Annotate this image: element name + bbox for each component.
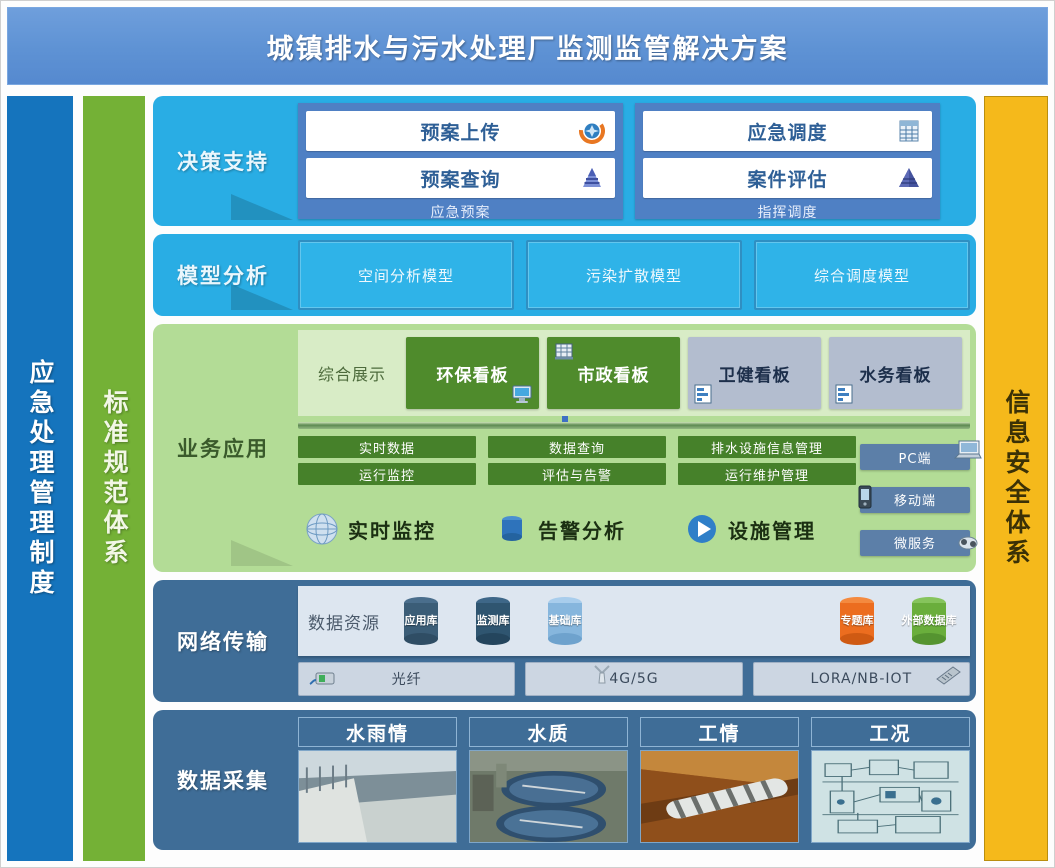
play-circle-icon	[682, 509, 722, 549]
layer-label-business-application: 业务应用	[153, 324, 293, 572]
business-feature-realtime-monitoring[interactable]: 实时监控	[298, 494, 476, 564]
terminal-label: 移动端	[894, 490, 936, 509]
model-box-integrated-dispatch[interactable]: 综合调度模型	[754, 240, 970, 310]
kanban-label: 环保看板	[437, 361, 509, 386]
model-box-spatial[interactable]: 空间分析模型	[298, 240, 514, 310]
transmission-link-label: 光纤	[392, 669, 422, 689]
divider-marker	[562, 416, 568, 422]
layer-label-network-transmission: 网络传输	[153, 580, 293, 702]
kanban-health[interactable]: 卫健看板	[688, 337, 821, 409]
database-external[interactable]: 外部数据库	[898, 593, 960, 649]
section-divider	[298, 422, 970, 429]
decision-item-label: 预案上传	[420, 118, 500, 145]
pipeline-trench-photo	[640, 750, 799, 843]
comprehensive-display-row: 综合展示 环保看板 市政看板	[298, 330, 970, 416]
layer-label-data-collection: 数据采集	[153, 710, 293, 850]
decision-item-plan-query[interactable]: 预案查询	[306, 158, 615, 198]
layer-data-collection: 数据采集 水雨情	[153, 710, 976, 850]
business-feature-label: 实时监控	[348, 515, 436, 544]
pyramid-dark-icon	[896, 165, 922, 191]
architecture-diagram: 城镇排水与污水处理厂监测监管解决方案 应急处理管理制度 标准规范体系 信息安全体…	[0, 0, 1055, 868]
data-card-title: 水质	[469, 717, 628, 747]
chart-doc-icon	[833, 383, 855, 405]
kanban-label: 水务看板	[860, 361, 932, 386]
database-thematic[interactable]: 专题库	[826, 593, 888, 649]
decision-item-label: 应急调度	[747, 118, 827, 145]
decision-group-footer: 应急预案	[306, 205, 615, 221]
terminal-label: 微服务	[894, 533, 936, 552]
kanban-environment[interactable]: 环保看板	[406, 337, 539, 409]
kanban-municipal[interactable]: 市政看板	[547, 337, 680, 409]
decision-item-label: 案件评估	[747, 165, 827, 192]
kanban-label: 卫健看板	[719, 361, 791, 386]
scada-schematic-photo	[811, 750, 970, 843]
data-card-title: 工况	[811, 717, 970, 747]
terminal-microservice[interactable]: 微服务	[860, 530, 970, 556]
business-chip-operation-maintenance[interactable]: 运行维护管理	[678, 463, 856, 485]
business-chip-assessment-alarm[interactable]: 评估与告警	[488, 463, 666, 485]
page-title: 城镇排水与污水处理厂监测监管解决方案	[267, 27, 789, 66]
transmission-link-cellular[interactable]: 4G/5G	[525, 662, 742, 696]
transmission-link-label: LORA/NB-IOT	[811, 671, 913, 687]
side-panel-label: 信息安全体系	[998, 389, 1034, 569]
data-card-operating-condition[interactable]: 工况	[811, 717, 970, 843]
layer-label-decision-support: 决策支持	[153, 96, 293, 226]
layer-decision-support: 决策支持 预案上传 预案查询	[153, 96, 976, 226]
side-panel-information-security: 信息安全体系	[984, 96, 1048, 861]
data-resource-row: 数据资源 应用库 监测库	[298, 586, 970, 656]
business-chip-data-query[interactable]: 数据查询	[488, 436, 666, 458]
business-feature-label: 设施管理	[728, 515, 816, 544]
business-column-monitoring: 实时数据 运行监控 实时监控	[298, 436, 476, 564]
monitor-icon	[511, 383, 533, 405]
layer-business-application: 业务应用 综合展示 环保看板 市政看板	[153, 324, 976, 572]
side-panel-emergency-management: 应急处理管理制度	[7, 96, 73, 861]
database-monitoring[interactable]: 监测库	[462, 593, 524, 649]
business-chip-drainage-facility-info[interactable]: 排水设施信息管理	[678, 436, 856, 458]
page-title-bar: 城镇排水与污水处理厂监测监管解决方案	[7, 7, 1048, 85]
database-label: 应用库	[390, 615, 452, 627]
model-box-list: 空间分析模型 污染扩散模型 综合调度模型	[298, 240, 970, 310]
decision-group-command-dispatch: 应急调度 案件评估	[635, 103, 940, 219]
database-icon	[492, 509, 532, 549]
transmission-link-label: 4G/5G	[609, 671, 658, 687]
database-label: 外部数据库	[898, 615, 960, 627]
transmission-link-list: 光纤 4G/5G LORA/NB-IOT	[298, 662, 970, 696]
kanban-label: 市政看板	[578, 361, 650, 386]
river-channel-photo	[298, 750, 457, 843]
layer-model-analysis: 模型分析 空间分析模型 污染扩散模型 综合调度模型	[153, 234, 976, 316]
building-icon	[553, 340, 575, 362]
grid-table-icon	[896, 118, 922, 144]
kanban-water-affairs[interactable]: 水务看板	[829, 337, 962, 409]
decision-item-label: 预案查询	[420, 165, 500, 192]
terminal-mobile[interactable]: 移动端	[860, 487, 970, 513]
decision-item-case-assessment[interactable]: 案件评估	[643, 158, 932, 198]
layer-stack: 决策支持 预案上传 预案查询	[153, 96, 976, 861]
decision-item-plan-upload[interactable]: 预案上传	[306, 111, 615, 151]
terminal-list: PC端 移动端	[860, 436, 970, 564]
business-chip-operation-monitoring[interactable]: 运行监控	[298, 463, 476, 485]
data-card-title: 工情	[640, 717, 799, 747]
business-feature-label: 告警分析	[538, 515, 626, 544]
data-card-water-rain[interactable]: 水雨情	[298, 717, 457, 843]
decision-group-emergency-plan: 预案上传 预案查询	[298, 103, 623, 219]
data-collection-card-list: 水雨情	[298, 717, 970, 843]
pyramid-icon	[579, 165, 605, 191]
side-panel-label: 标准规范体系	[96, 389, 132, 569]
business-column-facility: 排水设施信息管理 运行维护管理 设施管理	[678, 436, 856, 564]
comprehensive-display-label: 综合展示	[306, 361, 398, 385]
business-feature-alarm-analysis[interactable]: 告警分析	[488, 494, 666, 564]
terminal-label: PC端	[899, 448, 932, 467]
database-label: 监测库	[462, 615, 524, 627]
decision-item-emergency-dispatch[interactable]: 应急调度	[643, 111, 932, 151]
laptop-icon	[952, 438, 978, 460]
data-card-title: 水雨情	[298, 717, 457, 747]
database-application[interactable]: 应用库	[390, 593, 452, 649]
fiber-cable-icon	[309, 669, 339, 689]
business-chip-realtime-data[interactable]: 实时数据	[298, 436, 476, 458]
side-panel-standards: 标准规范体系	[83, 96, 145, 861]
terminal-pc[interactable]: PC端	[860, 444, 970, 470]
decision-group-footer: 指挥调度	[643, 205, 932, 221]
business-feature-facility-management[interactable]: 设施管理	[678, 494, 856, 564]
business-column-alarm: 数据查询 评估与告警 告警分析	[488, 436, 666, 564]
data-card-project-status[interactable]: 工情	[640, 717, 799, 843]
model-box-pollution-diffusion[interactable]: 污染扩散模型	[526, 240, 742, 310]
side-panel-label: 应急处理管理制度	[22, 359, 58, 599]
database-label: 专题库	[826, 615, 888, 627]
antenna-icon	[587, 664, 617, 684]
data-card-water-quality[interactable]: 水质	[469, 717, 628, 843]
database-foundation[interactable]: 基础库	[534, 593, 596, 649]
data-resource-label: 数据资源	[308, 609, 380, 634]
transmission-link-fiber[interactable]: 光纤	[298, 662, 515, 696]
cloud-services-icon	[954, 530, 980, 552]
recycle-arrows-icon	[579, 118, 605, 144]
layer-network-transmission: 网络传输 数据资源 应用库	[153, 580, 976, 702]
sensor-module-icon	[933, 665, 963, 685]
globe-icon	[302, 509, 342, 549]
business-function-columns: 实时数据 运行监控 实时监控	[298, 436, 856, 564]
database-label: 基础库	[534, 615, 596, 627]
transmission-link-lora[interactable]: LORA/NB-IOT	[753, 662, 970, 696]
chart-doc-icon	[692, 383, 714, 405]
sedimentation-tanks-photo	[469, 750, 628, 843]
layer-label-model-analysis: 模型分析	[153, 234, 293, 316]
mobile-phone-icon	[850, 485, 876, 507]
